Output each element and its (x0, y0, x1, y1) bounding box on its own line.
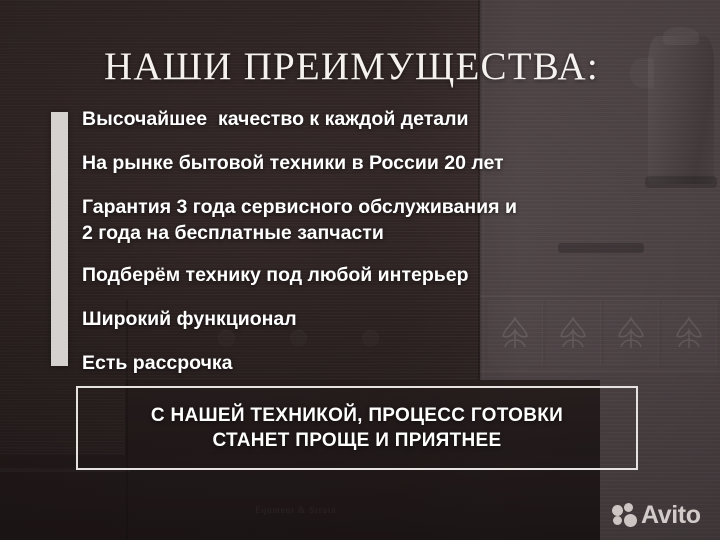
promo-banner: Equment & Strain НАШИ ПРЕИМУЩЕСТВА: Высо… (0, 0, 720, 540)
list-item: Высочайшее качество к каждой детали (82, 106, 622, 132)
avito-watermark: Avito (612, 503, 701, 527)
list-item: Широкий функционал (82, 306, 622, 332)
list-item: На рынке бытовой техники в России 20 лет (82, 150, 622, 176)
cta-banner: С НАШЕЙ ТЕХНИКОЙ, ПРОЦЕСС ГОТОВКИ СТАНЕТ… (76, 386, 638, 470)
avito-dots-icon (612, 503, 638, 527)
avito-wordmark: Avito (641, 503, 701, 527)
page-title: НАШИ ПРЕИМУЩЕСТВА: (104, 43, 599, 91)
promo-content: НАШИ ПРЕИМУЩЕСТВА: Высочайшее качество к… (0, 0, 720, 540)
list-item: Гарантия 3 года сервисного обслуживания … (82, 194, 622, 246)
cta-text: С НАШЕЙ ТЕХНИКОЙ, ПРОЦЕСС ГОТОВКИ СТАНЕТ… (151, 403, 563, 453)
list-item: Подберём технику под любой интерьер (82, 262, 622, 288)
accent-bar (51, 112, 68, 366)
benefits-list: Высочайшее качество к каждой детали На р… (82, 106, 622, 394)
list-item: Есть рассрочка (82, 350, 622, 376)
